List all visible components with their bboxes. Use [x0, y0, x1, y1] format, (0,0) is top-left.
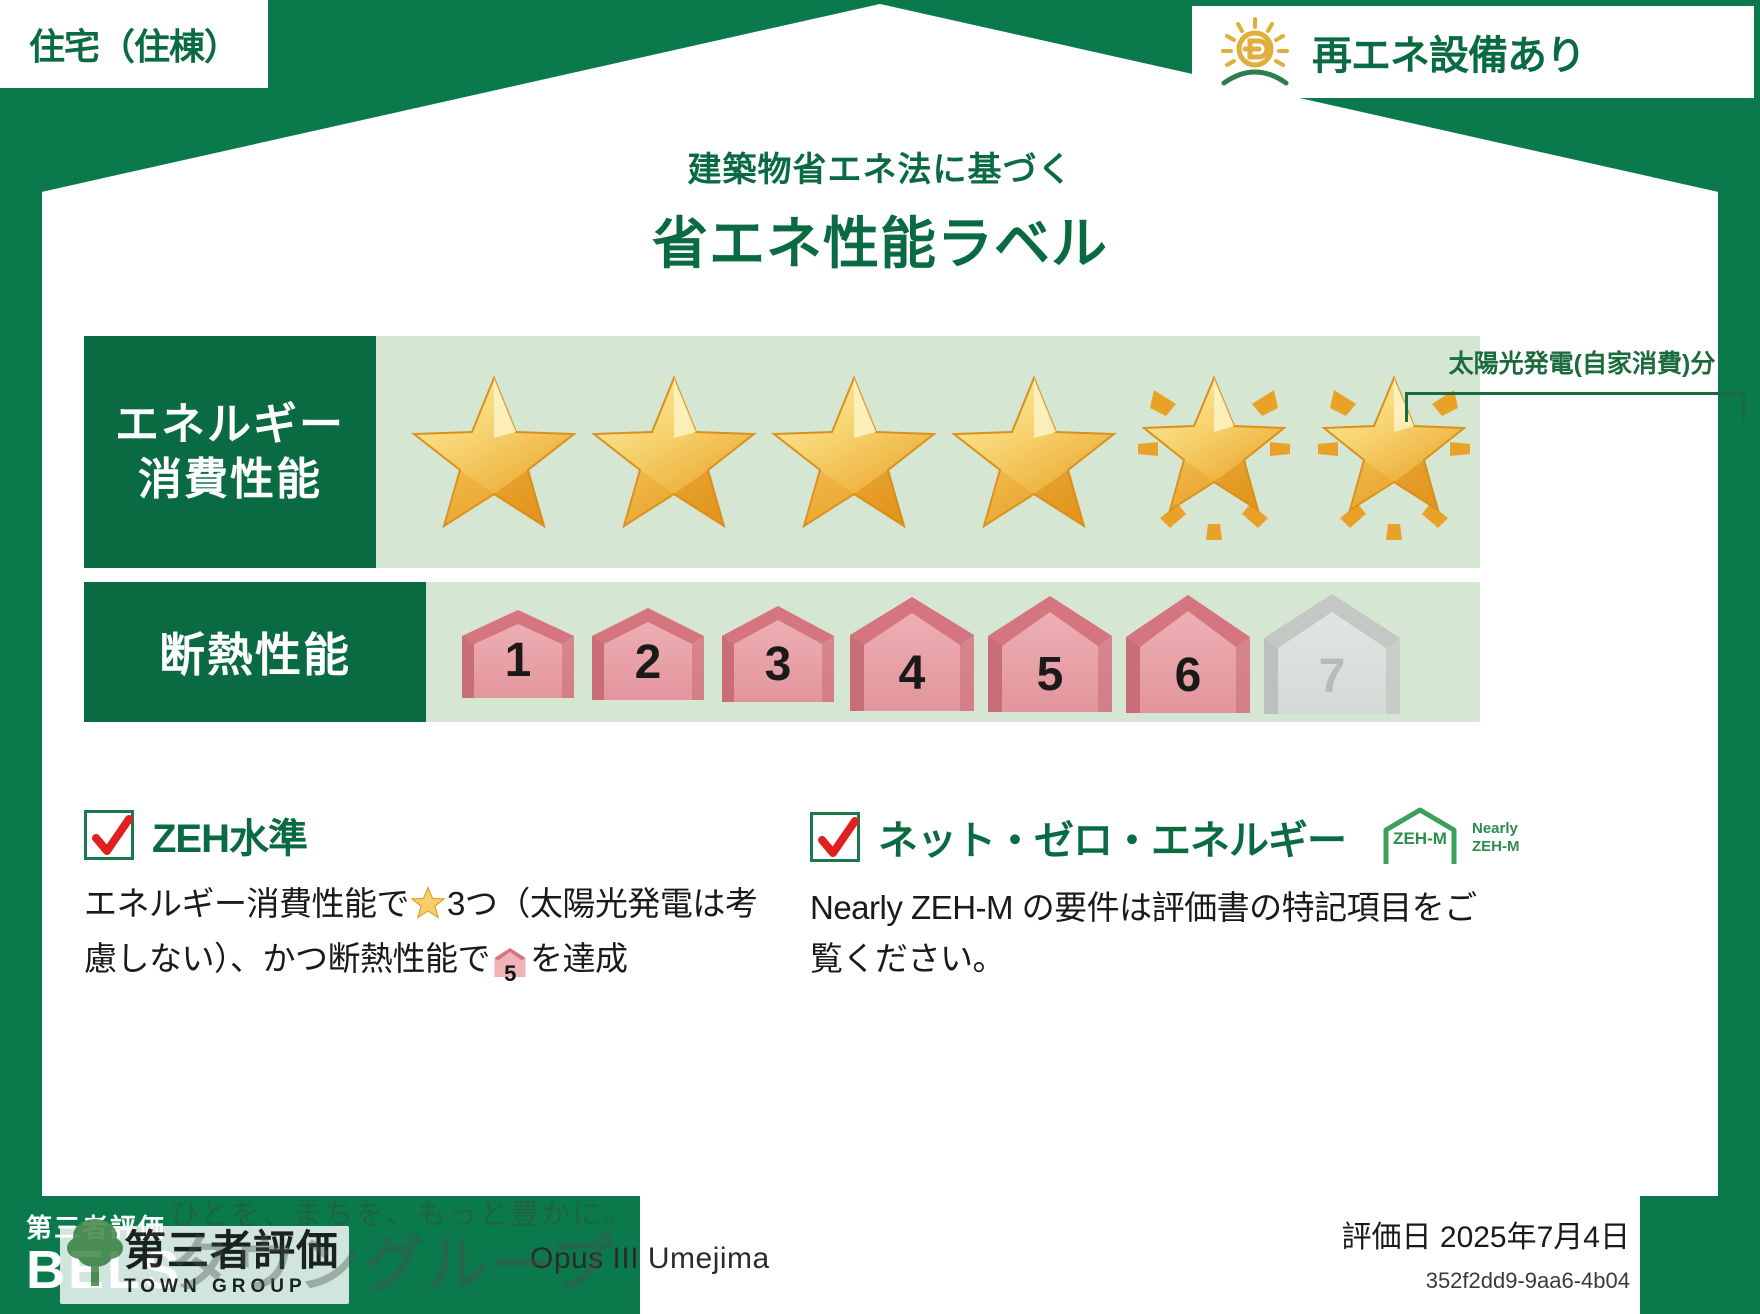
- check-nze-description: Nearly ZEH-M の要件は評価書の特記項目をご覧ください。: [810, 882, 1484, 984]
- checkbox-net-zero-energy[interactable]: [810, 812, 860, 862]
- star-icon-3: [768, 363, 940, 541]
- energy-label-line2: 消費性能: [138, 452, 322, 507]
- renewable-energy-badge: 再エネ設備あり: [1192, 6, 1754, 98]
- certification-checks: ZEH水準 エネルギー消費性能で 3つ（太陽光発電は考慮しない）、かつ断熱性能で…: [84, 806, 1484, 992]
- insulation-grade-5: 5: [982, 592, 1118, 712]
- title-block: 建築物省エネ法に基づく 省エネ性能ラベル: [0, 142, 1760, 280]
- energy-performance-body: 太陽光発電(自家消費)分: [376, 336, 1480, 568]
- check-zeh-description: エネルギー消費性能で 3つ（太陽光発電は考慮しない）、かつ断熱性能で 5を達成: [84, 878, 784, 992]
- house-icon-inline-grade: 5: [493, 941, 527, 992]
- insulation-grade-2: 2: [584, 604, 712, 700]
- footer: 第三者評価 BELS Opus III Umejima 評価日 2025年7月4…: [0, 1196, 1760, 1314]
- energy-performance-label: エネルギー 消費性能: [84, 336, 376, 568]
- insulation-performance-row: 断熱性能: [84, 582, 1480, 722]
- insulation-performance-body: 1 2: [426, 582, 1480, 722]
- check-zeh-desc-part1: エネルギー消費性能で: [84, 885, 409, 922]
- star-icon-4: [948, 363, 1120, 541]
- star-rating: [376, 363, 1480, 541]
- star-icon-inline: [411, 882, 445, 933]
- zeh-m-logo-icon: ZEH-M Nearly ZEH-M: [1378, 806, 1530, 868]
- svg-text:Nearly: Nearly: [1472, 820, 1519, 837]
- energy-label-line1: エネルギー: [115, 397, 345, 452]
- evaluation-date: 評価日 2025年7月4日: [1342, 1212, 1630, 1256]
- svg-text:ZEH-M: ZEH-M: [1472, 838, 1520, 855]
- star-icon-2: [588, 363, 760, 541]
- house-icon-inline-number: 5: [493, 957, 527, 991]
- svg-text:ZEH-M: ZEH-M: [1393, 829, 1447, 848]
- insulation-grade-6-number: 6: [1120, 648, 1256, 703]
- bels-line2: BELS: [26, 1245, 182, 1296]
- insulation-grade-7-inactive: 7: [1258, 590, 1406, 714]
- insulation-grade-scale: 1 2: [426, 590, 1406, 714]
- insulation-grade-5-number: 5: [982, 647, 1118, 702]
- building-type-badge: 住宅（住棟）: [0, 0, 268, 88]
- solar-bracket-label: 太陽光発電(自家消費)分: [1396, 344, 1760, 380]
- insulation-label-text: 断熱性能: [159, 619, 351, 685]
- renewable-energy-label: 再エネ設備あり: [1312, 23, 1585, 81]
- property-name: Opus III Umejima: [530, 1242, 770, 1276]
- renewable-energy-sun-icon: [1214, 15, 1296, 89]
- check-zeh-title: ZEH水準: [152, 806, 307, 864]
- star-icon-6-solar: [1308, 363, 1480, 541]
- insulation-grade-7-number: 7: [1258, 649, 1406, 704]
- checkbox-zeh-suijun[interactable]: [84, 810, 134, 860]
- star-icon-1: [408, 363, 580, 541]
- label-main-title: 省エネ性能ラベル: [0, 199, 1760, 280]
- check-nze-title: ネット・ゼロ・エネルギー: [878, 808, 1346, 866]
- insulation-grade-3-number: 3: [714, 637, 842, 692]
- star-icon-5-solar: [1128, 363, 1300, 541]
- label-canvas: 住宅（住棟） 再エ: [0, 0, 1760, 1314]
- building-type-label: 住宅（住棟）: [29, 18, 239, 70]
- check-zeh-header: ZEH水準: [84, 806, 784, 864]
- insulation-grade-1-number: 1: [454, 633, 582, 688]
- check-net-zero-energy: ネット・ゼロ・エネルギー ZEH-M Nearly ZEH-M Nearly Z…: [784, 806, 1484, 992]
- check-zeh-suijun: ZEH水準 エネルギー消費性能で 3つ（太陽光発電は考慮しない）、かつ断熱性能で…: [84, 806, 784, 992]
- label-subtitle: 建築物省エネ法に基づく: [0, 142, 1760, 191]
- check-zeh-desc-part3: を達成: [530, 940, 628, 977]
- insulation-grade-1: 1: [454, 606, 582, 698]
- solar-bracket: [1405, 392, 1745, 422]
- insulation-grade-2-number: 2: [584, 635, 712, 690]
- insulation-grade-4-number: 4: [844, 646, 980, 701]
- performance-rows: エネルギー 消費性能 太陽光発電(自家消費)分: [84, 336, 1480, 722]
- insulation-grade-6: 6: [1120, 591, 1256, 713]
- check-nze-header: ネット・ゼロ・エネルギー ZEH-M Nearly ZEH-M: [810, 806, 1484, 868]
- insulation-performance-label: 断熱性能: [84, 582, 426, 722]
- insulation-grade-4: 4: [844, 593, 980, 711]
- footer-green-right: [1640, 1196, 1760, 1314]
- energy-performance-row: エネルギー 消費性能 太陽光発電(自家消費)分: [84, 336, 1480, 568]
- evaluation-id: 352f2dd9-9aa6-4b04: [1426, 1268, 1630, 1294]
- insulation-grade-3: 3: [714, 602, 842, 702]
- bels-logo: 第三者評価 BELS: [26, 1204, 286, 1300]
